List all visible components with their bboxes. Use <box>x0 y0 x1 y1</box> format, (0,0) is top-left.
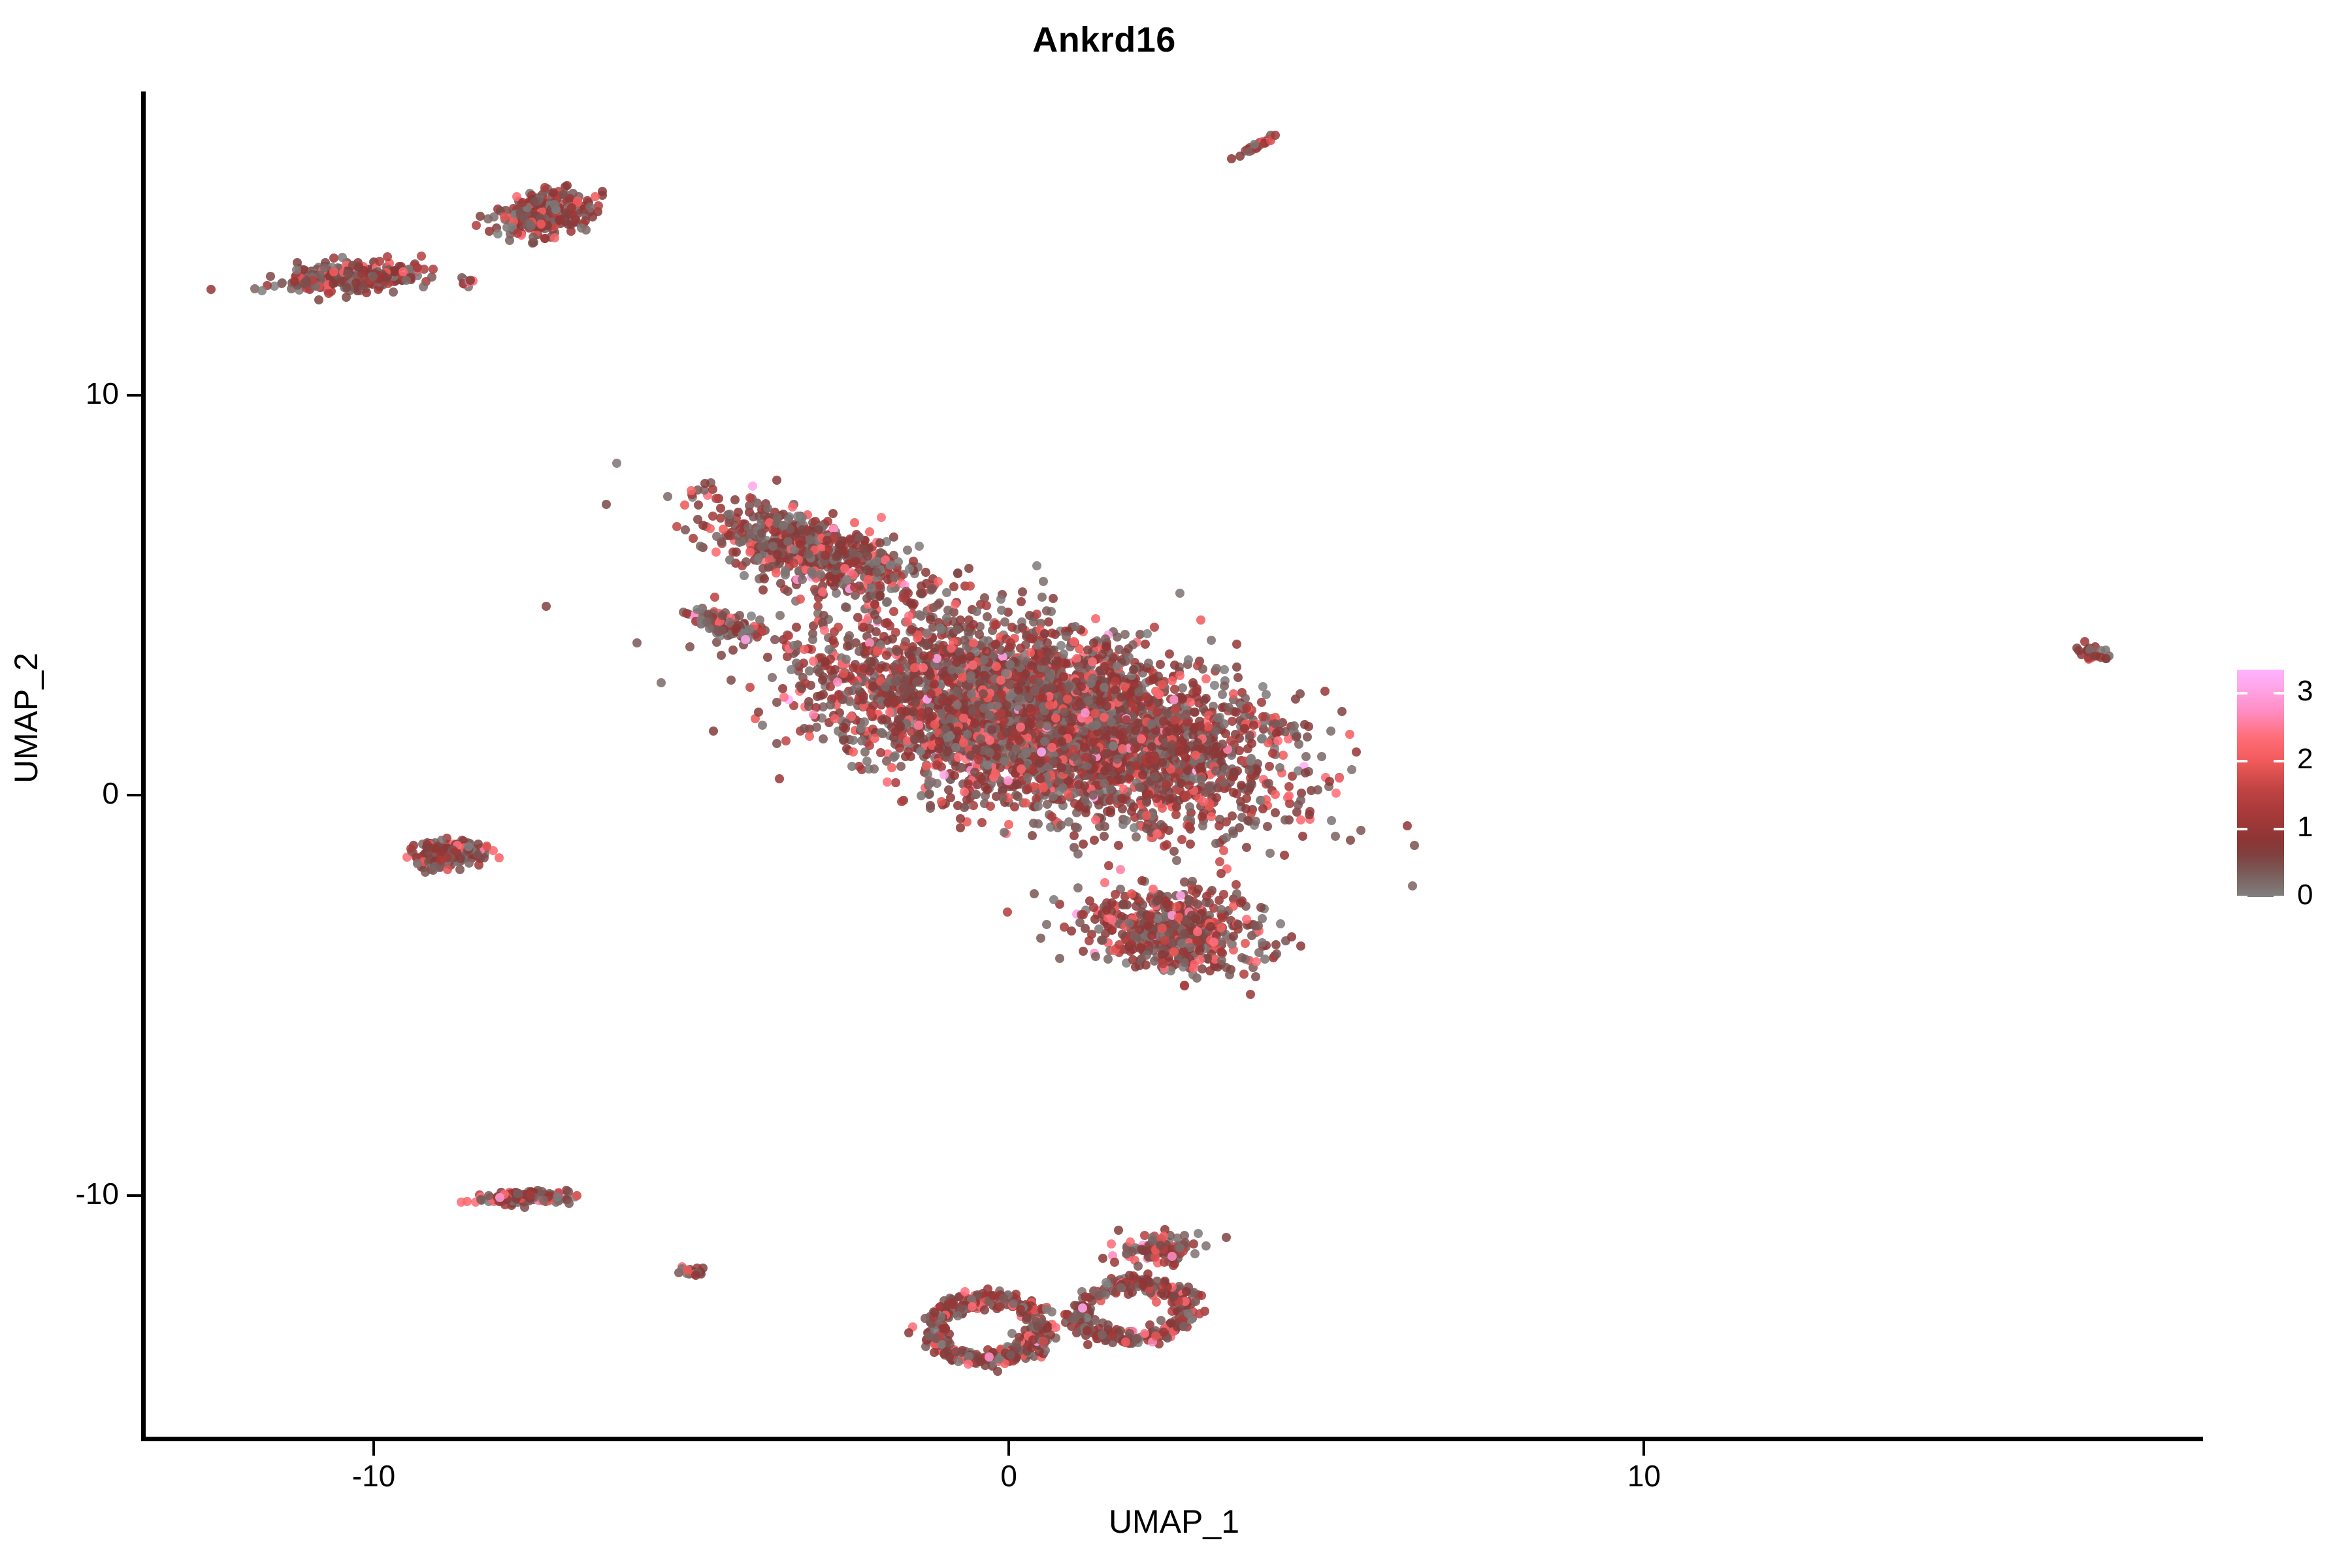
scatter-point <box>657 678 666 687</box>
scatter-point <box>1262 690 1271 699</box>
scatter-point <box>912 678 921 687</box>
scatter-point <box>1197 775 1206 784</box>
scatter-point <box>1010 802 1019 811</box>
scatter-point <box>953 687 962 696</box>
scatter-point <box>1162 780 1171 789</box>
scatter-point <box>1242 843 1251 852</box>
scatter-point <box>1152 829 1162 838</box>
scatter-point <box>1204 746 1213 755</box>
scatter-point <box>973 780 982 789</box>
scatter-point <box>709 727 718 736</box>
scatter-point <box>351 278 361 287</box>
scatter-point <box>887 763 896 772</box>
scatter-point <box>1178 683 1187 693</box>
scatter-point <box>953 625 962 634</box>
scatter-point <box>819 734 828 743</box>
scatter-point <box>266 272 275 281</box>
scatter-point <box>1151 772 1160 781</box>
scatter-point <box>1132 832 1141 841</box>
scatter-point <box>968 707 977 716</box>
scatter-point <box>1331 832 1340 841</box>
scatter-point <box>1245 766 1254 775</box>
scatter-point <box>1038 693 1047 702</box>
scatter-point <box>976 734 985 743</box>
scatter-point <box>1303 732 1312 742</box>
scatter-point <box>847 762 857 771</box>
scatter-point <box>960 636 969 645</box>
scatter-point <box>745 683 755 692</box>
scatter-point <box>877 728 886 737</box>
scatter-panel[interactable] <box>145 91 2203 1439</box>
scatter-point <box>1002 728 1011 737</box>
scatter-point <box>1030 687 1039 696</box>
scatter-point <box>483 214 493 223</box>
scatter-point <box>342 293 351 302</box>
scatter-point <box>362 288 371 297</box>
scatter-point <box>946 714 955 723</box>
scatter-point <box>1143 629 1152 638</box>
scatter-point <box>1013 792 1022 801</box>
scatter-point <box>476 212 485 221</box>
scatter-point <box>897 797 906 806</box>
scatter-point <box>1042 606 1051 615</box>
scatter-point <box>944 785 953 794</box>
scatter-point <box>809 710 818 719</box>
scatter-point <box>759 585 768 595</box>
scatter-point <box>1177 779 1186 788</box>
scatter-point <box>429 265 438 274</box>
scatter-point <box>594 201 603 210</box>
scatter-point <box>1301 768 1310 777</box>
scatter-point <box>1273 736 1282 745</box>
scatter-point <box>1100 832 1109 841</box>
scatter-point <box>1211 727 1220 736</box>
scatter-point <box>916 747 925 756</box>
scatter-point <box>1047 743 1056 752</box>
scatter-point <box>1103 749 1112 759</box>
scatter-point <box>808 635 817 644</box>
scatter-point <box>1039 577 1048 586</box>
scatter-point <box>1227 154 1236 163</box>
scatter-point <box>368 272 378 281</box>
scatter-point <box>1045 700 1054 710</box>
scatter-point <box>1325 777 1334 786</box>
scatter-point <box>1059 649 1068 659</box>
scatter-point <box>1298 832 1307 841</box>
scatter-point <box>1023 773 1032 782</box>
scatter-point <box>1170 685 1179 694</box>
scatter-point <box>843 642 852 651</box>
scatter-point <box>1271 808 1280 817</box>
scatter-point <box>1327 816 1336 825</box>
scatter-point <box>1018 623 1027 632</box>
scatter-point <box>926 804 935 813</box>
scatter-point <box>1233 673 1243 682</box>
scatter-point <box>417 252 426 261</box>
scatter-point <box>1016 644 1025 653</box>
scatter-point <box>906 685 915 694</box>
scatter-point <box>1347 765 1356 774</box>
scatter-point <box>1221 764 1230 774</box>
scatter-point <box>1196 615 1205 625</box>
scatter-point <box>982 601 991 610</box>
scatter-point <box>1047 812 1056 821</box>
scatter-point <box>1131 726 1140 735</box>
scatter-point <box>1230 768 1239 777</box>
scatter-point <box>970 719 979 728</box>
scatter-point <box>997 606 1006 615</box>
scatter-point <box>1207 812 1216 821</box>
scatter-point <box>781 736 791 745</box>
scatter-point <box>883 777 892 787</box>
scatter-point <box>1188 730 1198 740</box>
scatter-point <box>797 684 806 693</box>
scatter-point <box>1021 798 1030 808</box>
scatter-point <box>983 760 992 770</box>
scatter-point <box>775 774 784 783</box>
scatter-point <box>1043 721 1052 730</box>
scatter-point <box>632 638 642 647</box>
scatter-point <box>1109 742 1118 751</box>
scatter-point <box>834 623 843 632</box>
scatter-point <box>1280 851 1289 860</box>
scatter-point <box>967 690 976 699</box>
scatter-point <box>1113 662 1122 671</box>
scatter-point <box>968 661 977 670</box>
scatter-point <box>1088 791 1098 800</box>
scatter-point <box>770 635 779 644</box>
scatter-point <box>1205 783 1214 792</box>
scatter-point <box>919 651 928 661</box>
scatter-point <box>1115 645 1124 654</box>
scatter-point <box>1005 680 1015 689</box>
scatter-point <box>292 265 301 274</box>
scatter-point <box>985 748 994 757</box>
scatter-point <box>768 673 777 682</box>
scatter-point <box>278 278 287 287</box>
scatter-point <box>972 790 981 799</box>
scatter-point <box>1237 781 1246 790</box>
scatter-point <box>540 234 549 243</box>
scatter-point <box>1049 757 1058 766</box>
scatter-point <box>1199 797 1208 806</box>
scatter-point <box>1015 736 1024 745</box>
scatter-point <box>389 287 398 297</box>
scatter-point <box>958 655 967 664</box>
scatter-point <box>1220 665 1229 674</box>
scatter-point <box>924 777 934 787</box>
scatter-point <box>800 645 809 654</box>
scatter-point <box>472 221 481 230</box>
scatter-point <box>950 771 959 780</box>
scatter-point <box>1241 804 1250 813</box>
scatter-point <box>868 682 877 691</box>
scatter-point <box>1257 698 1266 707</box>
scatter-point <box>681 525 690 534</box>
scatter-point <box>881 682 890 691</box>
scatter-point <box>542 602 551 611</box>
scatter-point <box>710 593 719 602</box>
scatter-point <box>1235 746 1244 755</box>
scatter-point <box>1258 712 1267 721</box>
scatter-point <box>728 645 738 655</box>
scatter-point <box>1114 841 1123 850</box>
scatter-point <box>1077 682 1086 691</box>
scatter-point <box>1037 593 1047 602</box>
scatter-point <box>975 630 984 639</box>
scatter-point <box>1156 660 1165 669</box>
scatter-point <box>1279 751 1288 760</box>
scatter-point <box>778 684 787 693</box>
scatter-point <box>1217 869 1226 878</box>
scatter-point <box>1172 856 1181 865</box>
scatter-point <box>1184 822 1194 831</box>
scatter-point <box>1044 617 1053 627</box>
scatter-point <box>1317 752 1326 761</box>
scatter-point <box>1165 649 1174 659</box>
scatter-point <box>1028 831 1037 840</box>
scatter-point <box>1335 774 1344 783</box>
scatter-point <box>924 790 934 799</box>
scatter-point <box>206 285 216 294</box>
scatter-point <box>772 739 781 748</box>
scatter-point <box>1002 701 1011 710</box>
scatter-point <box>1144 790 1153 799</box>
scatter-point <box>873 647 882 656</box>
scatter-point <box>923 629 932 638</box>
scatter-point <box>819 611 828 620</box>
scatter-point <box>527 221 536 231</box>
scatter-point <box>1162 727 1171 736</box>
scatter-point <box>316 270 325 280</box>
scatter-point <box>956 615 965 625</box>
scatter-point <box>1040 629 1049 638</box>
scatter-point <box>1169 695 1179 704</box>
scatter-point <box>500 212 509 221</box>
scatter-point <box>1198 664 1207 674</box>
scatter-point <box>1158 804 1167 813</box>
scatter-point <box>1410 841 1419 850</box>
scatter-point <box>1100 766 1109 776</box>
scatter-point <box>1026 648 1035 657</box>
scatter-point <box>1207 636 1216 645</box>
scatter-point <box>1000 828 1009 837</box>
scatter-point <box>1152 708 1162 717</box>
scatter-point <box>1111 677 1120 686</box>
scatter-point <box>1150 623 1159 632</box>
scatter-point <box>849 747 858 757</box>
scatter-point <box>947 644 956 653</box>
scatter-point <box>853 613 862 622</box>
scatter-point <box>343 269 352 278</box>
scatter-point <box>1313 785 1322 794</box>
scatter-point <box>1252 766 1262 775</box>
scatter-point <box>1184 655 1193 664</box>
scatter-point <box>1074 780 1083 789</box>
scatter-point <box>1301 752 1311 761</box>
scatter-point <box>1345 730 1354 739</box>
scatter-point <box>828 636 838 645</box>
scatter-point <box>849 736 858 745</box>
scatter-point <box>727 676 736 685</box>
scatter-point <box>1258 804 1267 813</box>
scatter-point <box>342 283 351 292</box>
scatter-point <box>1266 849 1275 858</box>
scatter-point <box>1235 734 1244 743</box>
scatter-point <box>717 651 726 660</box>
scatter-point <box>536 220 546 229</box>
scatter-point <box>513 229 522 238</box>
scatter-point <box>1211 766 1220 776</box>
scatter-point <box>1002 634 1011 644</box>
scatter-point <box>1212 664 1221 673</box>
scatter-point <box>805 666 814 676</box>
scatter-point <box>1106 808 1115 817</box>
scatter-point <box>1034 802 1043 811</box>
scatter-point <box>1124 653 1134 662</box>
scatter-point <box>910 735 919 744</box>
scatter-point <box>1081 753 1090 762</box>
scatter-point <box>1005 660 1015 669</box>
scatter-point <box>859 623 868 632</box>
scatter-point <box>1210 681 1219 690</box>
scatter-point <box>1017 597 1026 606</box>
scatter-point <box>1154 690 1164 699</box>
scatter-point <box>1090 836 1099 845</box>
scatter-point <box>1060 708 1069 717</box>
scatter-point <box>1198 821 1207 830</box>
scatter-point <box>991 769 1000 778</box>
scatter-point <box>1073 823 1082 832</box>
scatter-point <box>399 267 408 276</box>
scatter-point <box>1220 681 1229 691</box>
scatter-point <box>889 607 898 616</box>
scatter-point <box>1102 642 1111 651</box>
scatter-point <box>314 295 323 304</box>
scatter-point <box>550 233 559 242</box>
scatter-point <box>923 715 932 724</box>
scatter-point <box>1213 713 1222 723</box>
scatter-point <box>943 747 952 757</box>
scatter-point <box>960 803 969 812</box>
scatter-point <box>1242 794 1251 803</box>
scatter-point <box>1263 822 1272 831</box>
scatter-point <box>1159 717 1168 726</box>
scatter-point <box>419 282 428 291</box>
scatter-point <box>1247 739 1256 748</box>
scatter-point <box>1258 734 1267 743</box>
scatter-point <box>809 657 818 666</box>
scatter-point <box>1142 811 1151 820</box>
scatter-point <box>1229 829 1238 838</box>
scatter-point <box>1115 730 1124 740</box>
scatter-point <box>805 732 814 741</box>
scatter-point <box>1130 744 1139 753</box>
scatter-point <box>1063 694 1072 704</box>
scatter-point <box>1175 589 1184 598</box>
scatter-point <box>1186 698 1195 707</box>
scatter-point <box>1074 662 1083 671</box>
scatter-point <box>1175 671 1184 680</box>
scatter-point <box>983 612 992 621</box>
scatter-point <box>549 188 558 197</box>
scatter-point <box>986 802 995 811</box>
scatter-point <box>1331 789 1341 798</box>
scatter-point <box>1218 740 1227 749</box>
scatter-point <box>1113 755 1122 764</box>
scatter-point <box>1284 782 1294 791</box>
scatter-point <box>977 818 987 827</box>
scatter-point <box>1356 826 1365 835</box>
scatter-point <box>1162 840 1171 849</box>
scatter-point <box>329 253 338 263</box>
scatter-point <box>1013 702 1022 711</box>
scatter-point <box>1158 758 1167 767</box>
scatter-point <box>1070 637 1079 646</box>
scatter-point <box>966 581 975 591</box>
scatter-point <box>891 778 900 787</box>
scatter-point <box>1049 792 1058 801</box>
scatter-point <box>812 723 821 732</box>
scatter-point <box>992 620 1001 629</box>
scatter-point <box>1215 857 1224 866</box>
scatter-point <box>870 657 879 666</box>
scatter-point <box>1007 623 1017 632</box>
scatter-point <box>890 698 899 707</box>
scatter-point <box>1169 847 1179 856</box>
scatter-point <box>1090 709 1100 718</box>
scatter-point <box>354 263 363 272</box>
scatter-point <box>932 779 941 788</box>
scatter-point <box>1271 131 1280 140</box>
scatter-point <box>1290 721 1299 730</box>
scatter-point <box>1271 790 1280 799</box>
scatter-point <box>959 713 968 723</box>
scatter-point <box>1296 689 1305 698</box>
scatter-point <box>789 641 798 650</box>
scatter-point <box>1086 679 1096 688</box>
scatter-point <box>1018 587 1027 596</box>
scatter-point <box>1249 721 1258 730</box>
scatter-point <box>1014 685 1023 694</box>
scatter-point <box>1243 816 1252 825</box>
scatter-point <box>1079 727 1088 736</box>
scatter-point <box>567 203 576 212</box>
scatter-point <box>904 747 913 757</box>
scatter-point <box>290 277 299 286</box>
scatter-point <box>1408 881 1417 890</box>
scatter-point <box>1100 662 1109 671</box>
scatter-point <box>1045 670 1054 679</box>
scatter-point <box>939 770 949 779</box>
scatter-point <box>776 611 785 620</box>
scatter-point <box>1300 720 1309 729</box>
scatter-point <box>792 659 801 668</box>
scatter-point <box>1166 794 1175 804</box>
scatter-point <box>1040 737 1049 746</box>
scatter-point <box>896 762 906 771</box>
scatter-point <box>505 236 514 245</box>
scatter-point <box>937 709 946 718</box>
scatter-point <box>1070 831 1079 840</box>
scatter-point <box>1107 717 1116 727</box>
scatter-point <box>1186 840 1195 849</box>
scatter-point <box>1326 727 1335 736</box>
scatter-point <box>1032 561 1041 570</box>
scatter-point <box>972 607 981 616</box>
scatter-point <box>772 698 781 707</box>
scatter-point <box>1102 702 1111 711</box>
